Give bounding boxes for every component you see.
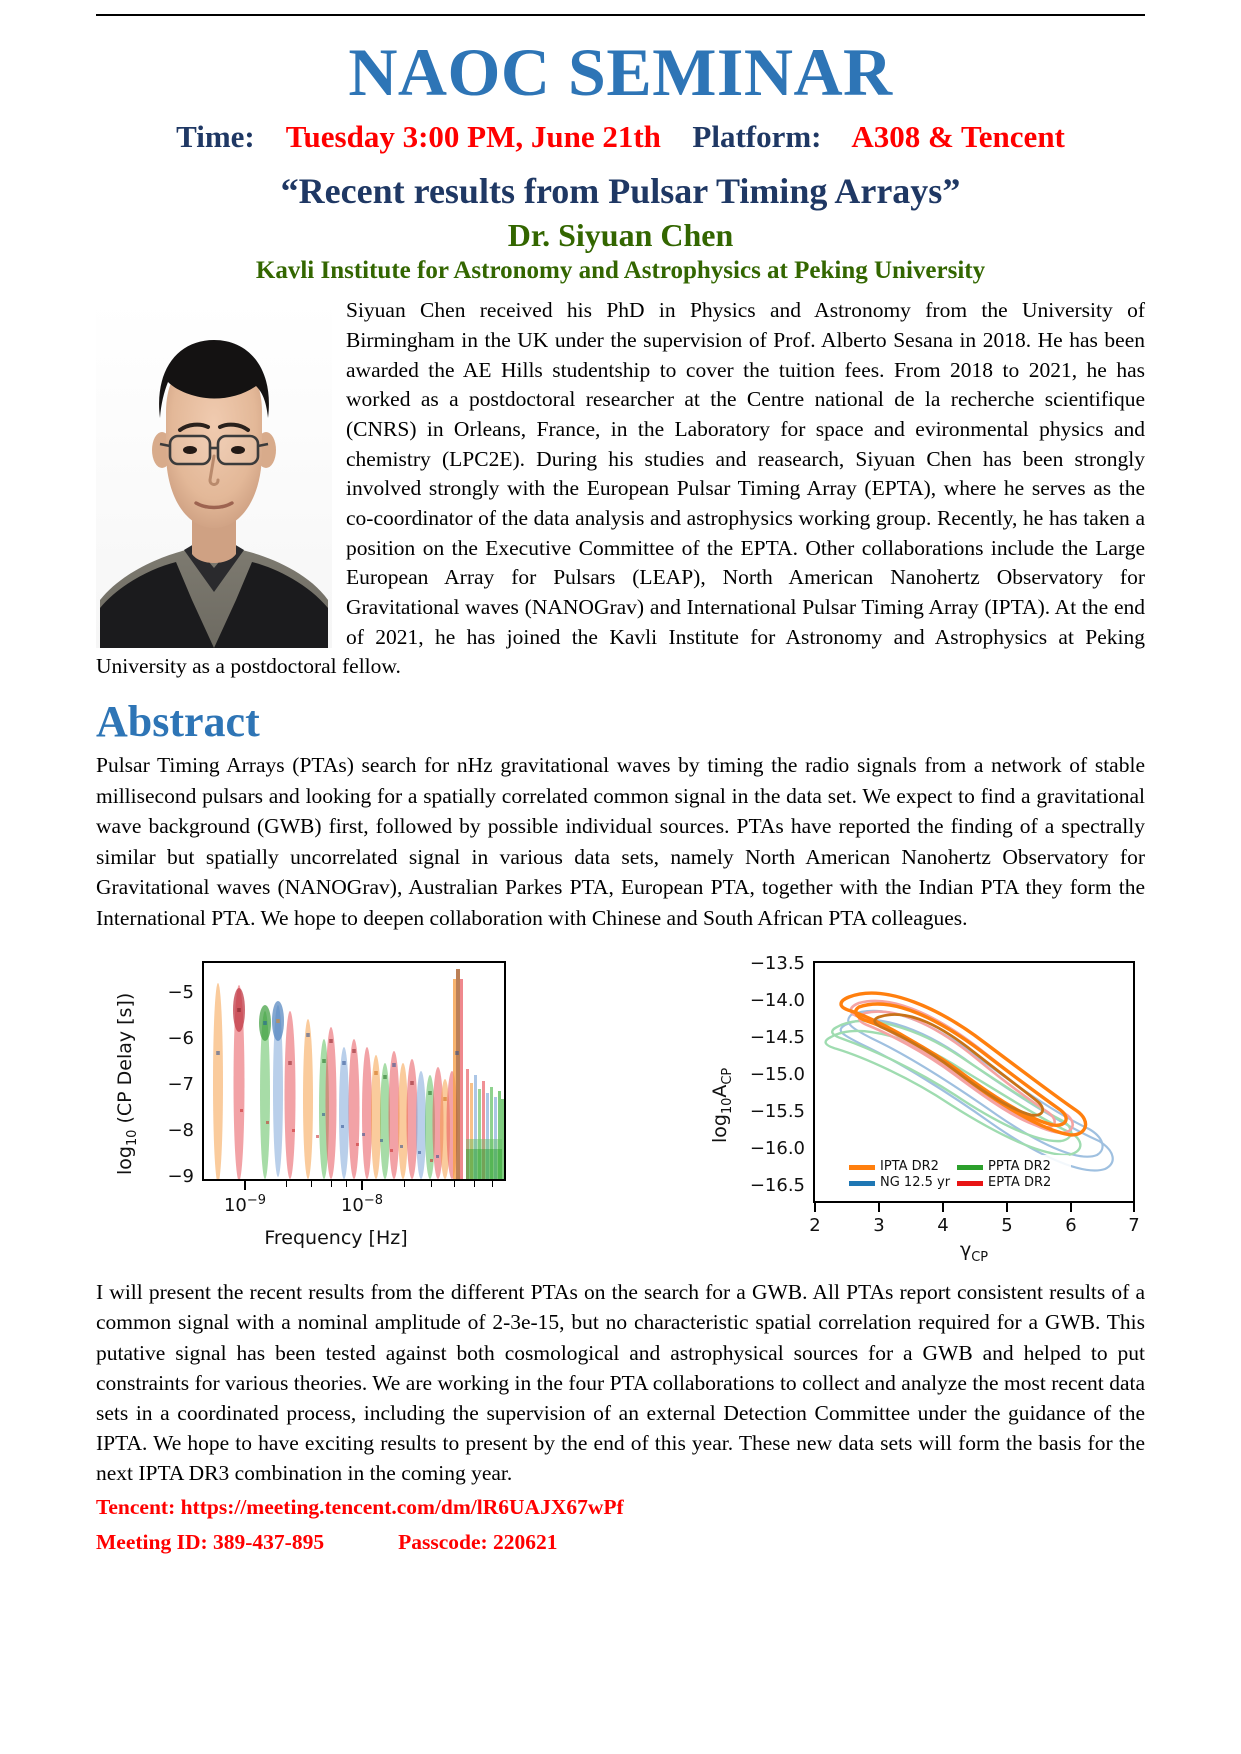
- left-chart-xtick-minor-5: [404, 1181, 405, 1187]
- time-label: Time:: [176, 119, 255, 154]
- right-chart-ytick-1: −14.0: [723, 990, 805, 1011]
- abstract-paragraph-1: Pulsar Timing Arrays (PTAs) search for n…: [96, 750, 1145, 933]
- tencent-link-line[interactable]: Tencent: https://meeting.tencent.com/dm/…: [96, 1492, 1145, 1523]
- legend-row-1: IPTA DR2 PPTA DR2: [849, 1159, 1065, 1175]
- right-chart-xtick-label-4: 6: [1055, 1215, 1087, 1236]
- time-value: Tuesday 3:00 PM, June 21th: [286, 119, 661, 154]
- left-chart-xtick-minor-8: [474, 1181, 475, 1187]
- legend-label-ipta-dr2: IPTA DR2: [880, 1159, 939, 1175]
- right-chart-xtick-label-1: 3: [863, 1215, 895, 1236]
- abstract-paragraph-2: I will present the recent results from t…: [96, 1277, 1145, 1488]
- left-chart-ytick-1: −6: [132, 1028, 194, 1049]
- right-chart-ytick-4: −15.5: [723, 1101, 805, 1122]
- top-divider-rule: [96, 14, 1145, 16]
- legend-row-2: NG 12.5 yr EPTA DR2: [849, 1175, 1065, 1191]
- speaker-affiliation: Kavli Institute for Astronomy and Astrop…: [96, 257, 1145, 285]
- legend-item-ppta-dr2: PPTA DR2: [957, 1159, 1065, 1175]
- figures-row: log10 (CP Delay [s]) −5 −6 −7 −8 −9: [96, 943, 1145, 1273]
- speaker-bio-block: Siyuan Chen received his PhD in Physics …: [96, 296, 1145, 682]
- figure-gamma-amplitude: log10ACP −13.5 −14.0 −14.5 −15.0 −15.5 −…: [695, 943, 1145, 1268]
- right-chart-xtick-mark-2: [942, 1203, 944, 1212]
- left-chart-xtick-mark-2: [361, 1181, 363, 1190]
- legend-label-ng-12-5-yr: NG 12.5 yr: [880, 1175, 950, 1191]
- right-chart-ytick-3: −15.0: [723, 1064, 805, 1085]
- left-chart-xtick-minor-6: [431, 1181, 432, 1187]
- left-chart-ytick-0: −5: [132, 982, 194, 1003]
- left-chart-xlabel: Frequency [Hz]: [156, 1227, 516, 1249]
- left-chart-ytick-2: −7: [132, 1074, 194, 1095]
- right-chart-xtick-mark-0: [814, 1203, 816, 1212]
- abstract-heading: Abstract: [96, 698, 1145, 746]
- legend-swatch-ppta-dr2: [957, 1165, 983, 1170]
- legend-item-ipta-dr2: IPTA DR2: [849, 1159, 957, 1175]
- meeting-credentials-line: Meeting ID: 389-437-895Passcode: 220621: [96, 1527, 1145, 1558]
- right-chart-xtick-mark-1: [878, 1203, 880, 1212]
- right-chart-xtick-label-0: 2: [799, 1215, 831, 1236]
- right-chart-xtick-mark-5: [1133, 1203, 1135, 1212]
- right-chart-ytick-2: −14.5: [723, 1027, 805, 1048]
- right-chart-xtick-mark-3: [1006, 1203, 1008, 1212]
- left-chart-xtick-mark-1: [244, 1181, 246, 1190]
- left-chart-xtick-label-0: 10−9: [208, 1193, 282, 1216]
- left-chart-xtick-label-1: 10−8: [325, 1193, 399, 1216]
- talk-title: “Recent results from Pulsar Timing Array…: [96, 172, 1145, 212]
- legend-item-ng-12-5-yr: NG 12.5 yr: [849, 1175, 957, 1191]
- legend-swatch-epta-dr2: [957, 1181, 983, 1186]
- left-chart-xtick-minor-3: [331, 1181, 332, 1187]
- platform-value: A308 & Tencent: [851, 119, 1065, 154]
- right-chart-xtick-label-5: 7: [1118, 1215, 1150, 1236]
- right-chart-xlabel: γCP: [813, 1239, 1135, 1265]
- platform-label: Platform:: [692, 119, 821, 154]
- left-chart-ytick-3: −8: [132, 1120, 194, 1141]
- right-chart-xtick-label-2: 4: [927, 1215, 959, 1236]
- left-chart-xtick-minor-1: [286, 1181, 287, 1187]
- legend-swatch-ng-12-5-yr: [849, 1181, 875, 1186]
- speaker-name: Dr. Siyuan Chen: [96, 218, 1145, 253]
- left-chart-xtick-minor-2: [311, 1181, 312, 1187]
- right-chart-plot-area: IPTA DR2 PPTA DR2 NG 12.5 yr: [813, 961, 1135, 1203]
- speaker-portrait: [96, 300, 332, 648]
- figure-cp-delay-spectrum: log10 (CP Delay [s]) −5 −6 −7 −8 −9: [96, 943, 526, 1268]
- right-chart-ytick-0: −13.5: [723, 953, 805, 974]
- time-platform-line: Time: Tuesday 3:00 PM, June 21th Platfor…: [96, 120, 1145, 154]
- left-chart-xtick-minor-9: [492, 1181, 493, 1187]
- left-chart-violins: [204, 963, 504, 1179]
- left-chart-xtick-minor-4: [346, 1181, 347, 1187]
- right-chart-ytick-6: −16.5: [723, 1175, 805, 1196]
- legend-item-epta-dr2: EPTA DR2: [957, 1175, 1065, 1191]
- legend-swatch-ipta-dr2: [849, 1165, 875, 1170]
- right-chart-legend: IPTA DR2 PPTA DR2 NG 12.5 yr: [843, 1155, 1071, 1196]
- seminar-poster-page: NAOC SEMINAR Time: Tuesday 3:00 PM, June…: [0, 0, 1241, 1754]
- right-chart-ytick-5: −16.0: [723, 1138, 805, 1159]
- left-chart-ytick-4: −9: [132, 1166, 194, 1187]
- legend-label-epta-dr2: EPTA DR2: [988, 1175, 1051, 1191]
- left-chart-plot-area: [202, 961, 506, 1181]
- right-chart-xtick-label-3: 5: [991, 1215, 1023, 1236]
- meeting-passcode: Passcode: 220621: [398, 1530, 557, 1554]
- left-chart-xtick-minor-7: [454, 1181, 455, 1187]
- meeting-id: Meeting ID: 389-437-895: [96, 1530, 324, 1554]
- legend-label-ppta-dr2: PPTA DR2: [988, 1159, 1051, 1175]
- right-chart-xtick-mark-4: [1070, 1203, 1072, 1212]
